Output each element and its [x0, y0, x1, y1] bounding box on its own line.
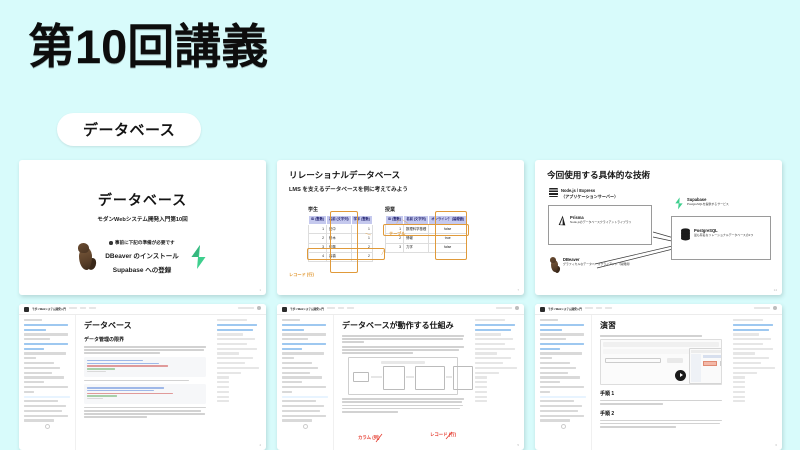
col-header: ID (整数)	[385, 216, 403, 225]
cell-year: 1	[351, 225, 372, 234]
supabase-bolt-icon	[188, 245, 209, 269]
slide1-req-1: DBeaver のインストール	[105, 250, 179, 260]
code-block	[84, 384, 206, 403]
doc-brand: モダンWebシステム開発入門	[548, 307, 582, 311]
doc2-page-number: 5	[517, 443, 519, 447]
doc-sidebar[interactable]	[535, 315, 592, 450]
cell-year: 2	[351, 243, 372, 252]
doc-paragraph	[84, 346, 206, 354]
doc1-page-number: 4	[259, 443, 261, 447]
slide1-note: 事前に下記の準備が必要です	[115, 240, 175, 246]
doc-sidebar[interactable]	[277, 315, 334, 450]
site-logo-icon	[24, 307, 29, 312]
annotation-table: テーブル	[389, 231, 406, 237]
supabase-group: Supabase PostgreSQLを提供するサービス	[674, 197, 729, 209]
dbeaver-beaver-icon	[549, 257, 560, 273]
browser-chrome-bar	[603, 342, 719, 347]
doc-paragraph	[342, 346, 464, 354]
code-block	[84, 357, 206, 376]
cell-year: 2	[351, 252, 372, 261]
postgres-desc: 最も有名なリレーショナルデータベースの1つ	[694, 234, 753, 238]
doc-main: データベース データ管理の限界	[76, 315, 213, 450]
video-player[interactable]	[600, 339, 722, 385]
annotation-record: レコード (行)	[289, 272, 314, 278]
doc-topnav[interactable]	[69, 307, 96, 312]
cell-online: false	[429, 225, 467, 234]
presentation-overview: 第10回講義 データベース データベース モダンWebシステム開発入門第10回 …	[0, 0, 800, 450]
doc-topbar-right[interactable]	[754, 306, 777, 313]
doc-topnav[interactable]	[327, 307, 354, 312]
slide3-page-number: 14	[774, 288, 777, 292]
page-title: 第10回講義	[28, 21, 268, 74]
slide1-page-number: 1	[259, 288, 261, 292]
table-students: 学生 ID (整数) 名前 (文字列) 学年 (整数) 1 田中 1	[308, 206, 373, 262]
site-logo-icon	[282, 307, 287, 312]
doc-body: 演習	[535, 304, 782, 450]
doc-step-1: 手順 1	[600, 390, 722, 397]
cell-id: 1	[309, 225, 327, 234]
slide2-title: リレーショナルデータベース	[289, 169, 514, 181]
table-row: 2 鈴木 1	[309, 234, 373, 243]
doc-topbar-right[interactable]	[238, 306, 261, 313]
play-button[interactable]	[675, 370, 686, 381]
doc-heading: データベースが動作する仕組み	[342, 320, 464, 331]
slide2-page-number: 7	[517, 288, 519, 292]
slide-thumbnail-technologies[interactable]: 今回使用する具体的な技術 Node.js / Express （アプリケーション…	[535, 160, 782, 295]
doc-main: 演習	[592, 315, 729, 450]
cell-online: false	[429, 243, 467, 252]
table-header-row: ID (整数) 名前 (文字列) オンライン？ (論理値)	[385, 216, 466, 225]
cell-name: 佐藤	[327, 243, 352, 252]
node-express-group: Node.js / Express （アプリケーションサーバー）	[549, 188, 618, 199]
doc-topbar-right[interactable]	[496, 306, 519, 313]
doc-sidebar[interactable]	[19, 315, 76, 450]
doc-topbar: モダンWebシステム開発入門	[19, 304, 266, 315]
topic-badge: データベース	[57, 113, 201, 146]
cell-name: 情報	[403, 234, 428, 243]
doc-toc[interactable]	[729, 315, 782, 450]
postgres-group: PostgreSQL 最も有名なリレーショナルデータベースの1つ	[680, 228, 753, 241]
doc-body: データベースが動作する仕組み	[277, 304, 524, 450]
doc-heading: 演習	[600, 320, 722, 331]
slide-thumbnail-relational-db[interactable]: リレーショナルデータベース LMS を支えるデータベースを例に考えてみよう 学生…	[277, 160, 524, 295]
col-header: 名前 (文字列)	[327, 216, 352, 225]
doc-step-2: 手順 2	[600, 410, 722, 417]
slide2-subtitle: LMS を支えるデータベースを例に考えてみよう	[289, 185, 514, 193]
cell-name: 数理科学基礎	[403, 225, 428, 234]
doc-topnav[interactable]	[585, 307, 612, 312]
slide1-body: 事前に下記の準備が必要です DBeaver のインストール Supabase へ…	[19, 240, 266, 274]
server-icon	[549, 188, 558, 197]
col-header: 名前 (文字列)	[403, 216, 428, 225]
doc-paragraph	[600, 335, 722, 337]
doc-thumbnail-exercise[interactable]: モダンWebシステム開発入門	[535, 304, 782, 450]
submit-button[interactable]	[667, 358, 683, 363]
site-logo-icon	[540, 307, 545, 312]
slide-grid: データベース モダンWebシステム開発入門第10回 事前に下記の準備が必要です …	[19, 160, 782, 450]
doc-paragraph	[342, 398, 464, 412]
col-header: ID (整数)	[309, 216, 327, 225]
slide1-requirements: 事前に下記の準備が必要です DBeaver のインストール Supabase へ…	[105, 240, 179, 274]
cell-id: 4	[309, 252, 327, 261]
table-row: 1 田中 1	[309, 225, 373, 234]
cell-name: 力学	[403, 243, 428, 252]
cell-name: 鈴木	[327, 234, 352, 243]
sidebar-footer-icon[interactable]	[45, 424, 50, 429]
dbeaver-beaver-icon	[76, 242, 96, 272]
dbeaver-desc: グラフィカルなデータベースクライアント（開発用）	[563, 263, 632, 267]
doc-thumbnail-database[interactable]: モダンWebシステム開発入門	[19, 304, 266, 450]
doc-body: データベース データ管理の限界	[19, 304, 266, 450]
slide1-title: データベース	[19, 190, 266, 210]
doc-paragraph	[342, 335, 464, 343]
slide2-tables: 学生 ID (整数) 名前 (文字列) 学年 (整数) 1 田中 1	[289, 206, 514, 262]
bullet-dot-icon	[109, 241, 113, 245]
col-header: 学年 (整数)	[351, 216, 372, 225]
database-icon	[680, 228, 691, 241]
doc-paragraph	[600, 420, 722, 428]
dbeaver-group: DBeaver グラフィカルなデータベースクライアント（開発用）	[549, 257, 632, 273]
sidebar-footer-icon[interactable]	[561, 424, 566, 429]
dbeaver-window	[689, 348, 722, 384]
table-row: 3 佐藤 2	[309, 243, 373, 252]
doc-thumbnail-how-db-works[interactable]: モダンWebシステム開発入門	[277, 304, 524, 450]
supabase-desc: PostgreSQLを提供するサービス	[687, 203, 729, 207]
doc-brand: モダンWebシステム開発入門	[290, 307, 324, 311]
doc-paragraph	[84, 380, 206, 382]
slide1-subtitle: モダンWebシステム開発入門第10回	[19, 215, 266, 223]
doc-heading: データベース	[84, 320, 206, 331]
doc-main: データベースが動作する仕組み	[334, 315, 471, 450]
doc-paragraph	[600, 400, 722, 405]
slide1-note-row: 事前に下記の準備が必要です	[105, 240, 179, 246]
cell-year: 1	[351, 234, 372, 243]
prisma-group: Prisma Node.jsのデータベースクライアントライブラリ	[557, 215, 632, 227]
doc-paragraph	[84, 407, 206, 418]
slide1-req-2: Supabase への登録	[105, 264, 179, 274]
sidebar-footer-icon[interactable]	[303, 424, 308, 429]
table-row: 3 力学 false	[385, 243, 466, 252]
node-express-desc: （アプリケーションサーバー）	[561, 194, 618, 200]
slide3-title: 今回使用する具体的な技術	[547, 169, 772, 181]
doc-toc[interactable]	[471, 315, 524, 450]
slide-thumbnail-title[interactable]: データベース モダンWebシステム開発入門第10回 事前に下記の準備が必要です …	[19, 160, 266, 295]
cell-id: 2	[309, 234, 327, 243]
table-header-row: ID (整数) 名前 (文字列) 学年 (整数)	[309, 216, 373, 225]
doc-brand: モダンWebシステム開発入門	[32, 307, 66, 311]
table-row: 4 高橋 2	[309, 252, 373, 261]
supabase-bolt-icon	[674, 197, 684, 209]
prisma-icon	[557, 215, 567, 227]
slide-row-bottom: モダンWebシステム開発入門	[19, 304, 782, 450]
cell-online: true	[429, 234, 467, 243]
doc-topbar: モダンWebシステム開発入門	[277, 304, 524, 315]
table-students-caption: 学生	[308, 206, 373, 213]
cell-name: 高橋	[327, 252, 352, 261]
cell-name: 田中	[327, 225, 352, 234]
cell-id: 3	[309, 243, 327, 252]
prisma-desc: Node.jsのデータベースクライアントライブラリ	[570, 221, 632, 225]
table-classes-caption: 授業	[385, 206, 467, 213]
architecture-diagram	[348, 357, 458, 395]
cell-id: 3	[385, 243, 403, 252]
red-annotation-arrows	[334, 430, 471, 450]
slide-row-top: データベース モダンWebシステム開発入門第10回 事前に下記の準備が必要です …	[19, 160, 782, 295]
doc-subheading: データ管理の限界	[84, 336, 206, 343]
search-input[interactable]	[605, 358, 661, 363]
col-header: オンライン？ (論理値)	[429, 216, 467, 225]
doc-topbar: モダンWebシステム開発入門	[535, 304, 782, 315]
doc-toc[interactable]	[213, 315, 266, 450]
doc3-page-number: 6	[775, 443, 777, 447]
